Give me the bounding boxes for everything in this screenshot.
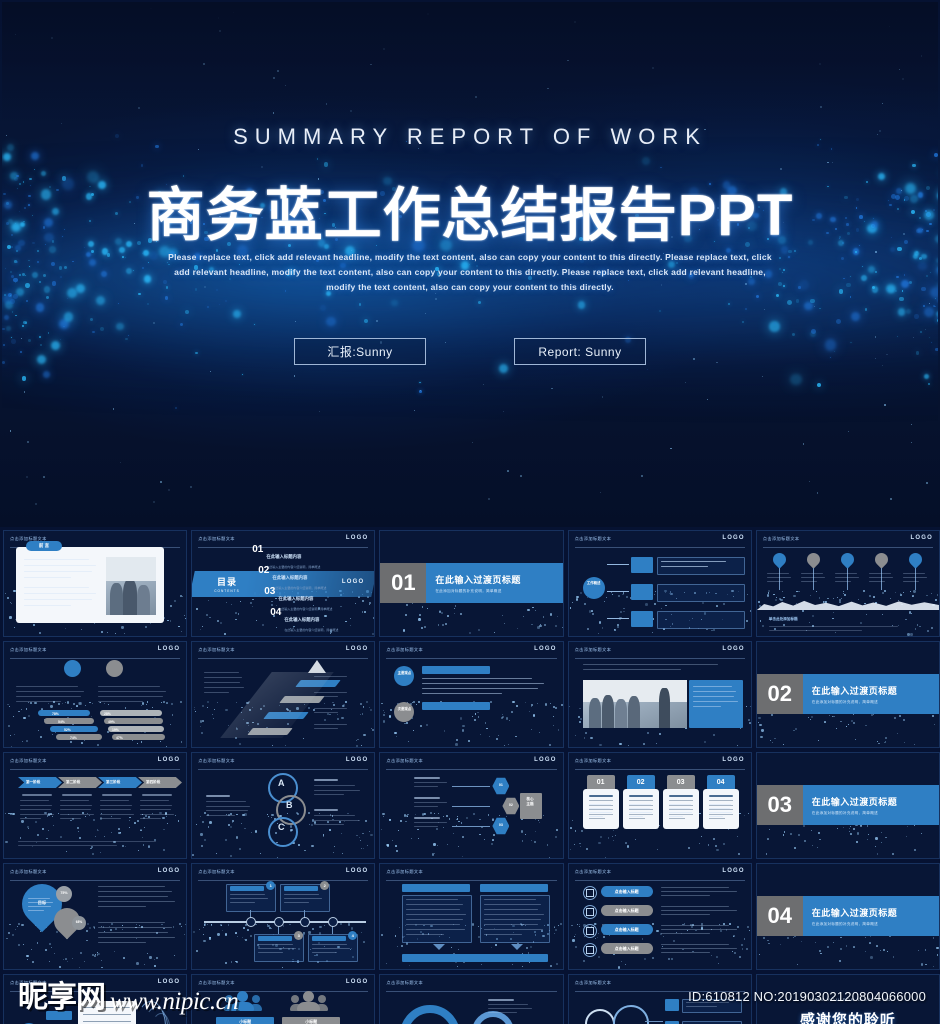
ring-list-tag <box>665 999 679 1011</box>
photo-side-panel <box>689 680 743 728</box>
chevron-label: 第二阶段 <box>66 780 80 785</box>
slide-thumbnail-12[interactable]: 点击添加标题文本LOGOABC <box>191 752 375 859</box>
contents-item-number: 04 <box>270 608 281 617</box>
hexagon-label: 01 <box>492 783 509 787</box>
transition-number: 02 <box>757 674 803 714</box>
hero-button-row: 汇报:Sunny Report: Sunny <box>0 338 940 365</box>
slide-thumbnail-2[interactable]: 点击添加标题文本LOGO目录CONTENTSLOGO01在此输入标题内容在此输入… <box>191 530 375 637</box>
timeline-number: 3 <box>294 933 303 938</box>
thumb-logo: LOGO <box>722 757 744 763</box>
droplet-value-2-text: 68% <box>72 920 86 924</box>
thumb-logo: LOGO <box>722 535 744 541</box>
slide-thumbnail-15[interactable]: 03在此输入过渡页标题在此添加对标题的补充说明，简单概述 <box>756 752 940 859</box>
abc-letter: A <box>268 778 294 788</box>
point-badge <box>394 666 414 686</box>
flow-box <box>657 584 745 602</box>
slide-thumbnail-11[interactable]: 点击添加标题文本LOGO第一阶段第二阶段第三阶段第四阶段 <box>3 752 187 859</box>
contents-item-label: 在此输入标题内容 <box>284 617 319 622</box>
contents-item-label: 在此输入标题内容 <box>278 596 313 601</box>
abc-letter: C <box>268 822 294 832</box>
flow-tag <box>631 611 653 627</box>
poster-page: SUMMARY REPORT OF WORK 商务蓝工作总结报告PPT Plea… <box>0 0 940 1024</box>
hexagon-label: 03 <box>492 823 509 827</box>
slide-thumbnail-20[interactable]: 04在此输入过渡页标题在此添加对标题的补充说明，简单概述 <box>756 863 940 970</box>
hero-top-fade <box>2 2 938 122</box>
contents-title-cn: 目录 <box>214 575 240 588</box>
list-label: 点击输入标题 <box>601 908 653 914</box>
slide-thumbnail-19[interactable]: 点击添加标题文本LOGO点击输入标题点击输入标题点击输入标题点击输入标题 <box>568 863 752 970</box>
point-badge-label: 主要观点 <box>397 671 411 676</box>
thumb-header-text: 点击添加标题文本 <box>575 869 612 875</box>
transition-number: 01 <box>380 563 426 603</box>
bar-left-value: 78% <box>52 712 59 716</box>
thumb-header-text: 点击添加标题文本 <box>575 980 612 986</box>
point-badge-label: 次要观点 <box>397 707 411 712</box>
thumb-logo: LOGO <box>158 868 180 874</box>
vs-panel-title: 小标题 <box>282 1019 340 1024</box>
thumb-header: 点击添加标题文本 <box>386 869 556 881</box>
thumb-header: 点击添加标题文本LOGO <box>763 536 933 548</box>
thumb-header-text: 点击添加标题文本 <box>575 758 612 764</box>
thumb-header: 点击添加标题文本LOGO <box>575 647 745 659</box>
bar-left <box>50 726 98 732</box>
slide-photo <box>583 680 687 728</box>
thumb-logo: LOGO <box>911 535 933 541</box>
thumb-header-text: 点击添加标题文本 <box>10 869 47 875</box>
thumb-logo: LOGO <box>346 979 368 985</box>
hero-eyebrow: SUMMARY REPORT OF WORK <box>0 124 940 150</box>
point-title-bar <box>422 702 490 710</box>
thumb-header: 点击添加标题文本LOGO <box>10 758 180 770</box>
card-number: 03 <box>667 779 695 786</box>
slide-thumbnail-18[interactable]: 点击添加标题文本 <box>379 863 563 970</box>
thumb-header: 点击添加标题文本LOGO <box>386 647 556 659</box>
transition-number: 04 <box>757 896 803 936</box>
thumb-logo: LOGO <box>346 757 368 763</box>
contents-item-label: 在此输入标题内容 <box>272 575 307 580</box>
thumb-header: 点击添加标题文本LOGO <box>198 758 368 770</box>
thumb-logo: LOGO <box>346 535 368 541</box>
thumb-header: 点击添加标题文本LOGO <box>575 758 745 770</box>
bar-left <box>56 734 102 740</box>
hero-lead-paragraph: Please replace text, click add relevant … <box>165 250 775 295</box>
contents-title-en: CONTENTS <box>214 589 240 593</box>
ring-1 <box>585 1009 615 1024</box>
transition-title: 在此输入过渡页标题 <box>812 684 939 697</box>
thumb-header-text: 点击添加标题文本 <box>10 647 47 653</box>
watermark-id: ID:610812 NO:20190302120804066000 <box>688 989 926 1004</box>
hero-banner: SUMMARY REPORT OF WORK 商务蓝工作总结报告PPT Plea… <box>0 0 940 527</box>
timeline-number: 2 <box>320 883 329 888</box>
thumb-header-text: 点击添加标题文本 <box>575 647 612 653</box>
chevron-label: 第三阶段 <box>106 780 120 785</box>
droplet-value-1-text: 75% <box>56 891 72 895</box>
slide-thumbnail-3[interactable]: 01在此输入过渡页标题在此添加对标题的补充说明，简单概述 <box>379 530 563 637</box>
page-title: 商务蓝工作总结报告PPT <box>0 168 940 252</box>
thumb-header-text: 点击添加标题文本 <box>198 758 235 764</box>
bar-left-value: 54% <box>58 720 65 724</box>
slide-thumbnail-14[interactable]: 点击添加标题文本LOGO01020304 <box>568 752 752 859</box>
thumb-header-text: 点击添加标题文本 <box>386 980 423 986</box>
preface-photo <box>106 557 156 615</box>
timeline-pin <box>770 550 788 568</box>
presenter-button-cn[interactable]: 汇报:Sunny <box>294 338 426 365</box>
watermark-url: www.nipic.cn <box>110 988 238 1016</box>
slide-thumbnail-16[interactable]: 点击添加标题文本LOGO目标75%68% <box>3 863 187 970</box>
stat-bubble-2 <box>106 660 123 677</box>
thumb-logo: LOGO <box>722 646 744 652</box>
thumb-header-text: 点击添加标题文本 <box>386 647 423 653</box>
transition-title: 在此输入过渡页标题 <box>812 906 939 919</box>
bar-right-value: 28% <box>104 712 111 716</box>
abc-letter: B <box>276 800 302 810</box>
thumb-logo: LOGO <box>342 579 364 585</box>
transition-subtitle: 在此添加对标题的补充说明，简单概述 <box>435 589 562 594</box>
thumb-header: 点击添加标题文本LOGO <box>198 869 368 881</box>
thumb-header-text: 点击添加标题文本 <box>198 536 235 542</box>
vs-panel-title: 小标题 <box>216 1019 274 1024</box>
card-number: 02 <box>627 779 655 786</box>
timeline-caption: 单击此处添加标题 <box>769 617 798 622</box>
transition-subtitle: 在此添加对标题的补充说明，简单概述 <box>812 700 939 705</box>
list-label: 点击输入标题 <box>601 889 653 895</box>
thumb-logo: LOGO <box>534 646 556 652</box>
thumb-header-text: 点击添加标题文本 <box>198 647 235 653</box>
slide-thumbnail-4[interactable]: 点击添加标题文本LOGO工作概述 <box>568 530 752 637</box>
thumb-header: 点击添加标题文本LOGO <box>10 647 180 659</box>
chevron-label: 第四阶段 <box>146 780 160 785</box>
thumb-logo: LOGO <box>722 868 744 874</box>
preface-tag: 前 言 <box>26 541 62 551</box>
column-footer <box>402 954 548 962</box>
thumb-header-text: 点击添加标题文本 <box>10 758 47 764</box>
contents-item-number: 01 <box>252 545 263 554</box>
transition-title: 在此输入过渡页标题 <box>435 573 562 586</box>
bar-left <box>38 710 90 716</box>
timeline-pin <box>838 550 856 568</box>
slide-thumbnail-23[interactable]: 点击添加标题文本 <box>379 974 563 1024</box>
contents-item-number: 03 <box>264 587 275 596</box>
thanks-title: 感谢您的聆听 <box>757 1009 939 1024</box>
ring-2 <box>613 1005 649 1024</box>
thumb-header: 点击添加标题文本LOGO <box>10 869 180 881</box>
vs-people-icon <box>290 991 330 1011</box>
bar-left <box>44 718 94 724</box>
transition-subtitle: 在此添加对标题的补充说明，简单概述 <box>812 811 939 816</box>
slide-thumbnail-6[interactable]: 点击添加标题文本LOGO78%54%52%74%28%49%19%47% <box>3 641 187 748</box>
slide-thumbnail-7[interactable]: 点击添加标题文本LOGO <box>191 641 375 748</box>
bar-left-value: 74% <box>70 736 77 740</box>
thumb-dot-field <box>4 923 186 969</box>
thumb-logo: LOGO <box>534 757 556 763</box>
thumb-dot-field <box>4 701 186 747</box>
slide-thumbnail-grid: 点击添加标题文本前 言点击添加标题文本LOGO目录CONTENTSLOGO01在… <box>0 527 940 1024</box>
gear-icon-large <box>400 1005 460 1024</box>
timeline-pin <box>872 550 890 568</box>
slide-thumbnail-13[interactable]: 点击添加标题文本LOGO010203核心 主题 <box>379 752 563 859</box>
flow-tag <box>631 584 653 600</box>
watermark: 昵享网 www.nipic.cn <box>18 972 238 1016</box>
presenter-button-en[interactable]: Report: Sunny <box>514 338 646 365</box>
point-title-bar <box>422 666 490 674</box>
contents-label: 目录CONTENTS <box>214 575 240 593</box>
contents-item-label: 在此输入标题内容 <box>266 554 301 559</box>
thumb-logo: LOGO <box>346 646 368 652</box>
contents-item-number: 02 <box>258 566 269 575</box>
transition-number: 03 <box>757 785 803 825</box>
thumb-logo: LOGO <box>346 868 368 874</box>
thumb-header-text: 点击添加标题文本 <box>198 869 235 875</box>
thumb-header-text: 点击添加标题文本 <box>575 536 612 542</box>
transition-banner: 02在此输入过渡页标题在此添加对标题的补充说明，简单概述 <box>757 674 939 714</box>
flow-box <box>657 611 745 629</box>
timeline-pin <box>906 550 924 568</box>
transition-banner: 03在此输入过渡页标题在此添加对标题的补充说明，简单概述 <box>757 785 939 825</box>
thumb-header-text: 点击添加标题文本 <box>386 758 423 764</box>
timeline-number: 1 <box>266 883 275 888</box>
column-header <box>480 884 548 892</box>
transition-title: 在此输入过渡页标题 <box>812 795 939 808</box>
thumb-header-text: 点击添加标题文本 <box>763 536 800 542</box>
thumb-logo: LOGO <box>158 646 180 652</box>
contents-item: 04在此输入标题内容在此输入主要的内容介绍说明，简单概述 <box>270 608 338 632</box>
stat-bubble-1 <box>64 660 81 677</box>
transition-banner: 01在此输入过渡页标题在此添加对标题的补充说明，简单概述 <box>380 563 562 603</box>
slide-thumbnail-9[interactable]: 点击添加标题文本LOGO <box>568 641 752 748</box>
thumb-header: 点击添加标题文本 <box>386 980 556 992</box>
column-header <box>402 884 470 892</box>
contents-item-sub: 在此输入主要的内容介绍说明，简单概述 <box>284 628 338 632</box>
bar-right-value: 19% <box>112 728 119 732</box>
slide-thumbnail-17[interactable]: 点击添加标题文本LOGO1234 <box>191 863 375 970</box>
bar-right-value: 49% <box>108 720 115 724</box>
thumb-header: 点击添加标题文本LOGO <box>575 869 745 881</box>
thumb-header-text: 点击添加标题文本 <box>386 869 423 875</box>
transition-banner: 04在此输入过渡页标题在此添加对标题的补充说明，简单概述 <box>757 896 939 936</box>
card-number: 04 <box>707 779 735 786</box>
watermark-site-name: 昵享网 <box>18 972 105 1016</box>
slide-thumbnail-1[interactable]: 点击添加标题文本前 言 <box>3 530 187 637</box>
slide-thumbnail-8[interactable]: 点击添加标题文本LOGO主要观点次要观点 <box>379 641 563 748</box>
transition-subtitle: 在此添加对标题的补充说明，简单概述 <box>812 922 939 927</box>
bar-left-value: 52% <box>64 728 71 732</box>
thumb-header: 点击添加标题文本LOGO <box>575 536 745 548</box>
timeline-pin <box>804 550 822 568</box>
flow-tag <box>631 557 653 573</box>
list-label: 点击输入标题 <box>601 946 653 952</box>
list-label: 点击输入标题 <box>601 927 653 933</box>
thumb-logo: LOGO <box>158 757 180 763</box>
bar-right-value: 47% <box>116 736 123 740</box>
slide-thumbnail-10[interactable]: 02在此输入过渡页标题在此添加对标题的补充说明，简单概述 <box>756 641 940 748</box>
slide-thumbnail-5[interactable]: 点击添加标题文本LOGO单击此处添加标题 <box>756 530 940 637</box>
chevron-label: 第一阶段 <box>26 780 40 785</box>
thumb-header: 点击添加标题文本LOGO <box>386 758 556 770</box>
card-number: 01 <box>587 779 615 786</box>
hexagon-label: 02 <box>502 803 519 807</box>
timeline-number: 4 <box>348 933 357 938</box>
thumb-header: 点击添加标题文本LOGO <box>198 647 368 659</box>
